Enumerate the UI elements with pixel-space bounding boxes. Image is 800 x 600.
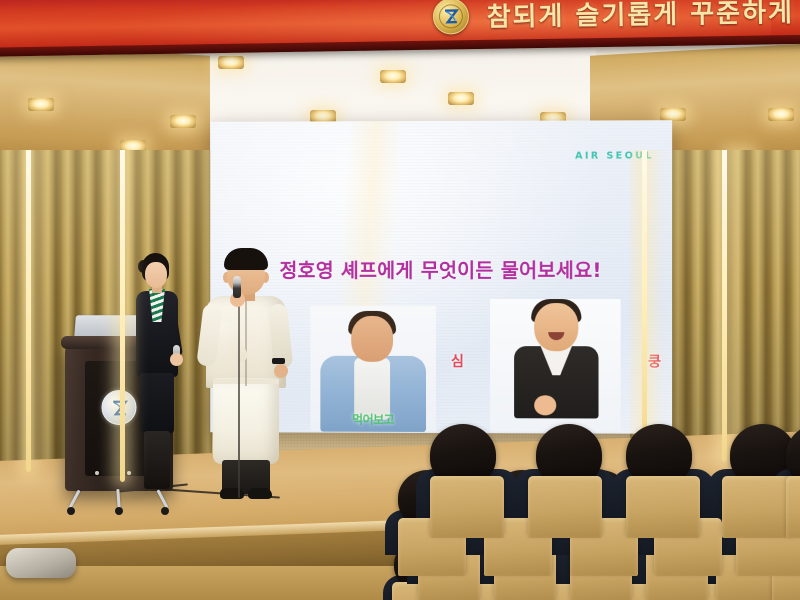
chef-microphone	[233, 276, 241, 298]
chef-wristwatch	[272, 358, 285, 364]
denim-jacket-man-photo: 먹어보고	[310, 306, 436, 431]
chef-right-hand	[274, 364, 288, 378]
led-strip-right-2	[722, 150, 727, 462]
ceiling-spotlight-6	[380, 70, 406, 83]
banner-slogan-text: 참되게 슬기롭게 꾸준하게	[486, 0, 794, 34]
attendant-hand	[170, 353, 183, 366]
chef-coat-seam	[245, 300, 247, 386]
smiling-chef-photo: 심 쿵	[490, 299, 621, 432]
photo-scene: AIR SEOUL 정호영 셰프에게 무엇이든 물어보세요! 먹어보고 심 쿵	[0, 0, 800, 600]
banner-content: 참되게 슬기롭게 꾸준하게	[0, 0, 800, 48]
led-strip-right-1	[642, 150, 647, 464]
led-strip-left-2	[120, 150, 125, 482]
attendant-face	[145, 262, 167, 288]
audience-seat	[626, 476, 700, 538]
photo-caption-left: 먹어보고	[318, 408, 428, 432]
ceiling-spotlight-7	[448, 92, 474, 105]
ceiling-spotlight-2	[170, 115, 196, 128]
school-emblem-icon	[432, 0, 469, 34]
ceiling-spotlight-15	[768, 108, 794, 121]
attendant-skirt	[140, 373, 174, 433]
ceiling-spotlight-12	[660, 108, 686, 121]
sim-label: 심	[451, 351, 464, 371]
audience-seat	[786, 476, 800, 538]
ceiling-spotlight-1	[28, 98, 54, 111]
audience-seat	[528, 476, 602, 538]
face-right-photo	[534, 303, 578, 351]
ceiling-spotlight-3	[218, 56, 244, 69]
audience-seat	[430, 476, 504, 538]
chef-hair	[224, 248, 268, 270]
audience-seat	[722, 476, 796, 538]
emblem-z-mark	[442, 9, 459, 24]
hand-holding-item	[534, 395, 556, 415]
face-left-photo	[351, 316, 393, 362]
kung-label: 쿵	[648, 351, 661, 371]
led-strip-left-1	[26, 150, 31, 472]
